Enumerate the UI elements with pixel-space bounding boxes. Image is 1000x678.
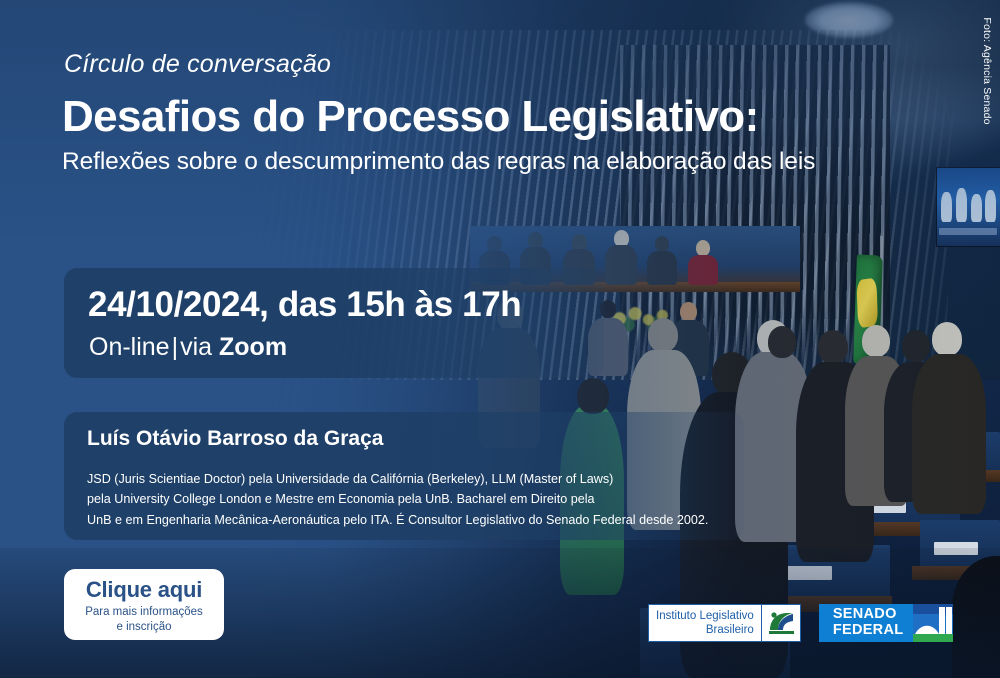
logo-senado-text: SENADO FEDERAL xyxy=(819,604,914,642)
logo-bar: Instituto Legislativo Brasileiro SENADO … xyxy=(648,603,953,643)
registration-button-title: Clique aqui xyxy=(64,578,224,602)
logo-senado-federal: SENADO FEDERAL xyxy=(819,604,954,642)
speaker-bio-line: UnB e em Engenharia Mecânica-Aeronáutica… xyxy=(87,510,708,530)
poster-content: Círculo de conversação Desafios do Proce… xyxy=(0,0,1000,678)
speaker-bio-line: JSD (Juris Scientiae Doctor) pela Univer… xyxy=(87,469,708,489)
logo-senado-line2: FEDERAL xyxy=(833,623,904,639)
congress-building-icon xyxy=(913,604,953,642)
event-mode-middle: via xyxy=(180,333,212,361)
event-mode: On-line|via Zoom xyxy=(89,333,287,362)
event-mode-platform: Zoom xyxy=(219,333,287,361)
speaker-bio-line: pela University College London e Mestre … xyxy=(87,489,708,509)
event-poster: Círculo de conversação Desafios do Proce… xyxy=(0,0,1000,678)
event-mode-prefix: On-line xyxy=(89,333,170,361)
logo-senado-line1: SENADO xyxy=(833,607,897,623)
speaker-card: Luís Otávio Barroso da Graça JSD (Juris … xyxy=(64,412,744,540)
registration-button-subtitle: Para mais informações e inscrição xyxy=(64,605,224,634)
logo-ilb-text: Instituto Legislativo Brasileiro xyxy=(649,605,761,641)
registration-button-subtitle-line2: e inscrição xyxy=(64,620,224,635)
logo-instituto-legislativo-brasileiro: Instituto Legislativo Brasileiro xyxy=(648,604,801,642)
event-kicker: Círculo de conversação xyxy=(64,50,331,79)
event-subtitle: Reflexões sobre o descumprimento das reg… xyxy=(62,148,815,176)
photo-credit-text: Foto: Agência Senado xyxy=(981,17,993,124)
event-mode-separator: | xyxy=(170,333,181,361)
registration-button-subtitle-line1: Para mais informações xyxy=(64,605,224,620)
photo-credit: Foto: Agência Senado xyxy=(976,6,998,136)
logo-ilb-line2: Brasileiro xyxy=(706,623,754,637)
ilb-emblem-icon xyxy=(761,605,800,641)
speaker-bio: JSD (Juris Scientiae Doctor) pela Univer… xyxy=(87,469,708,530)
logo-ilb-line1: Instituto Legislativo xyxy=(656,609,754,623)
event-title: Desafios do Processo Legislativo: xyxy=(62,94,759,140)
event-datetime: 24/10/2024, das 15h às 17h xyxy=(88,285,521,325)
schedule-card: 24/10/2024, das 15h às 17h On-line|via Z… xyxy=(64,268,604,378)
registration-button[interactable]: Clique aqui Para mais informações e insc… xyxy=(64,569,224,640)
speaker-name: Luís Otávio Barroso da Graça xyxy=(87,427,383,451)
